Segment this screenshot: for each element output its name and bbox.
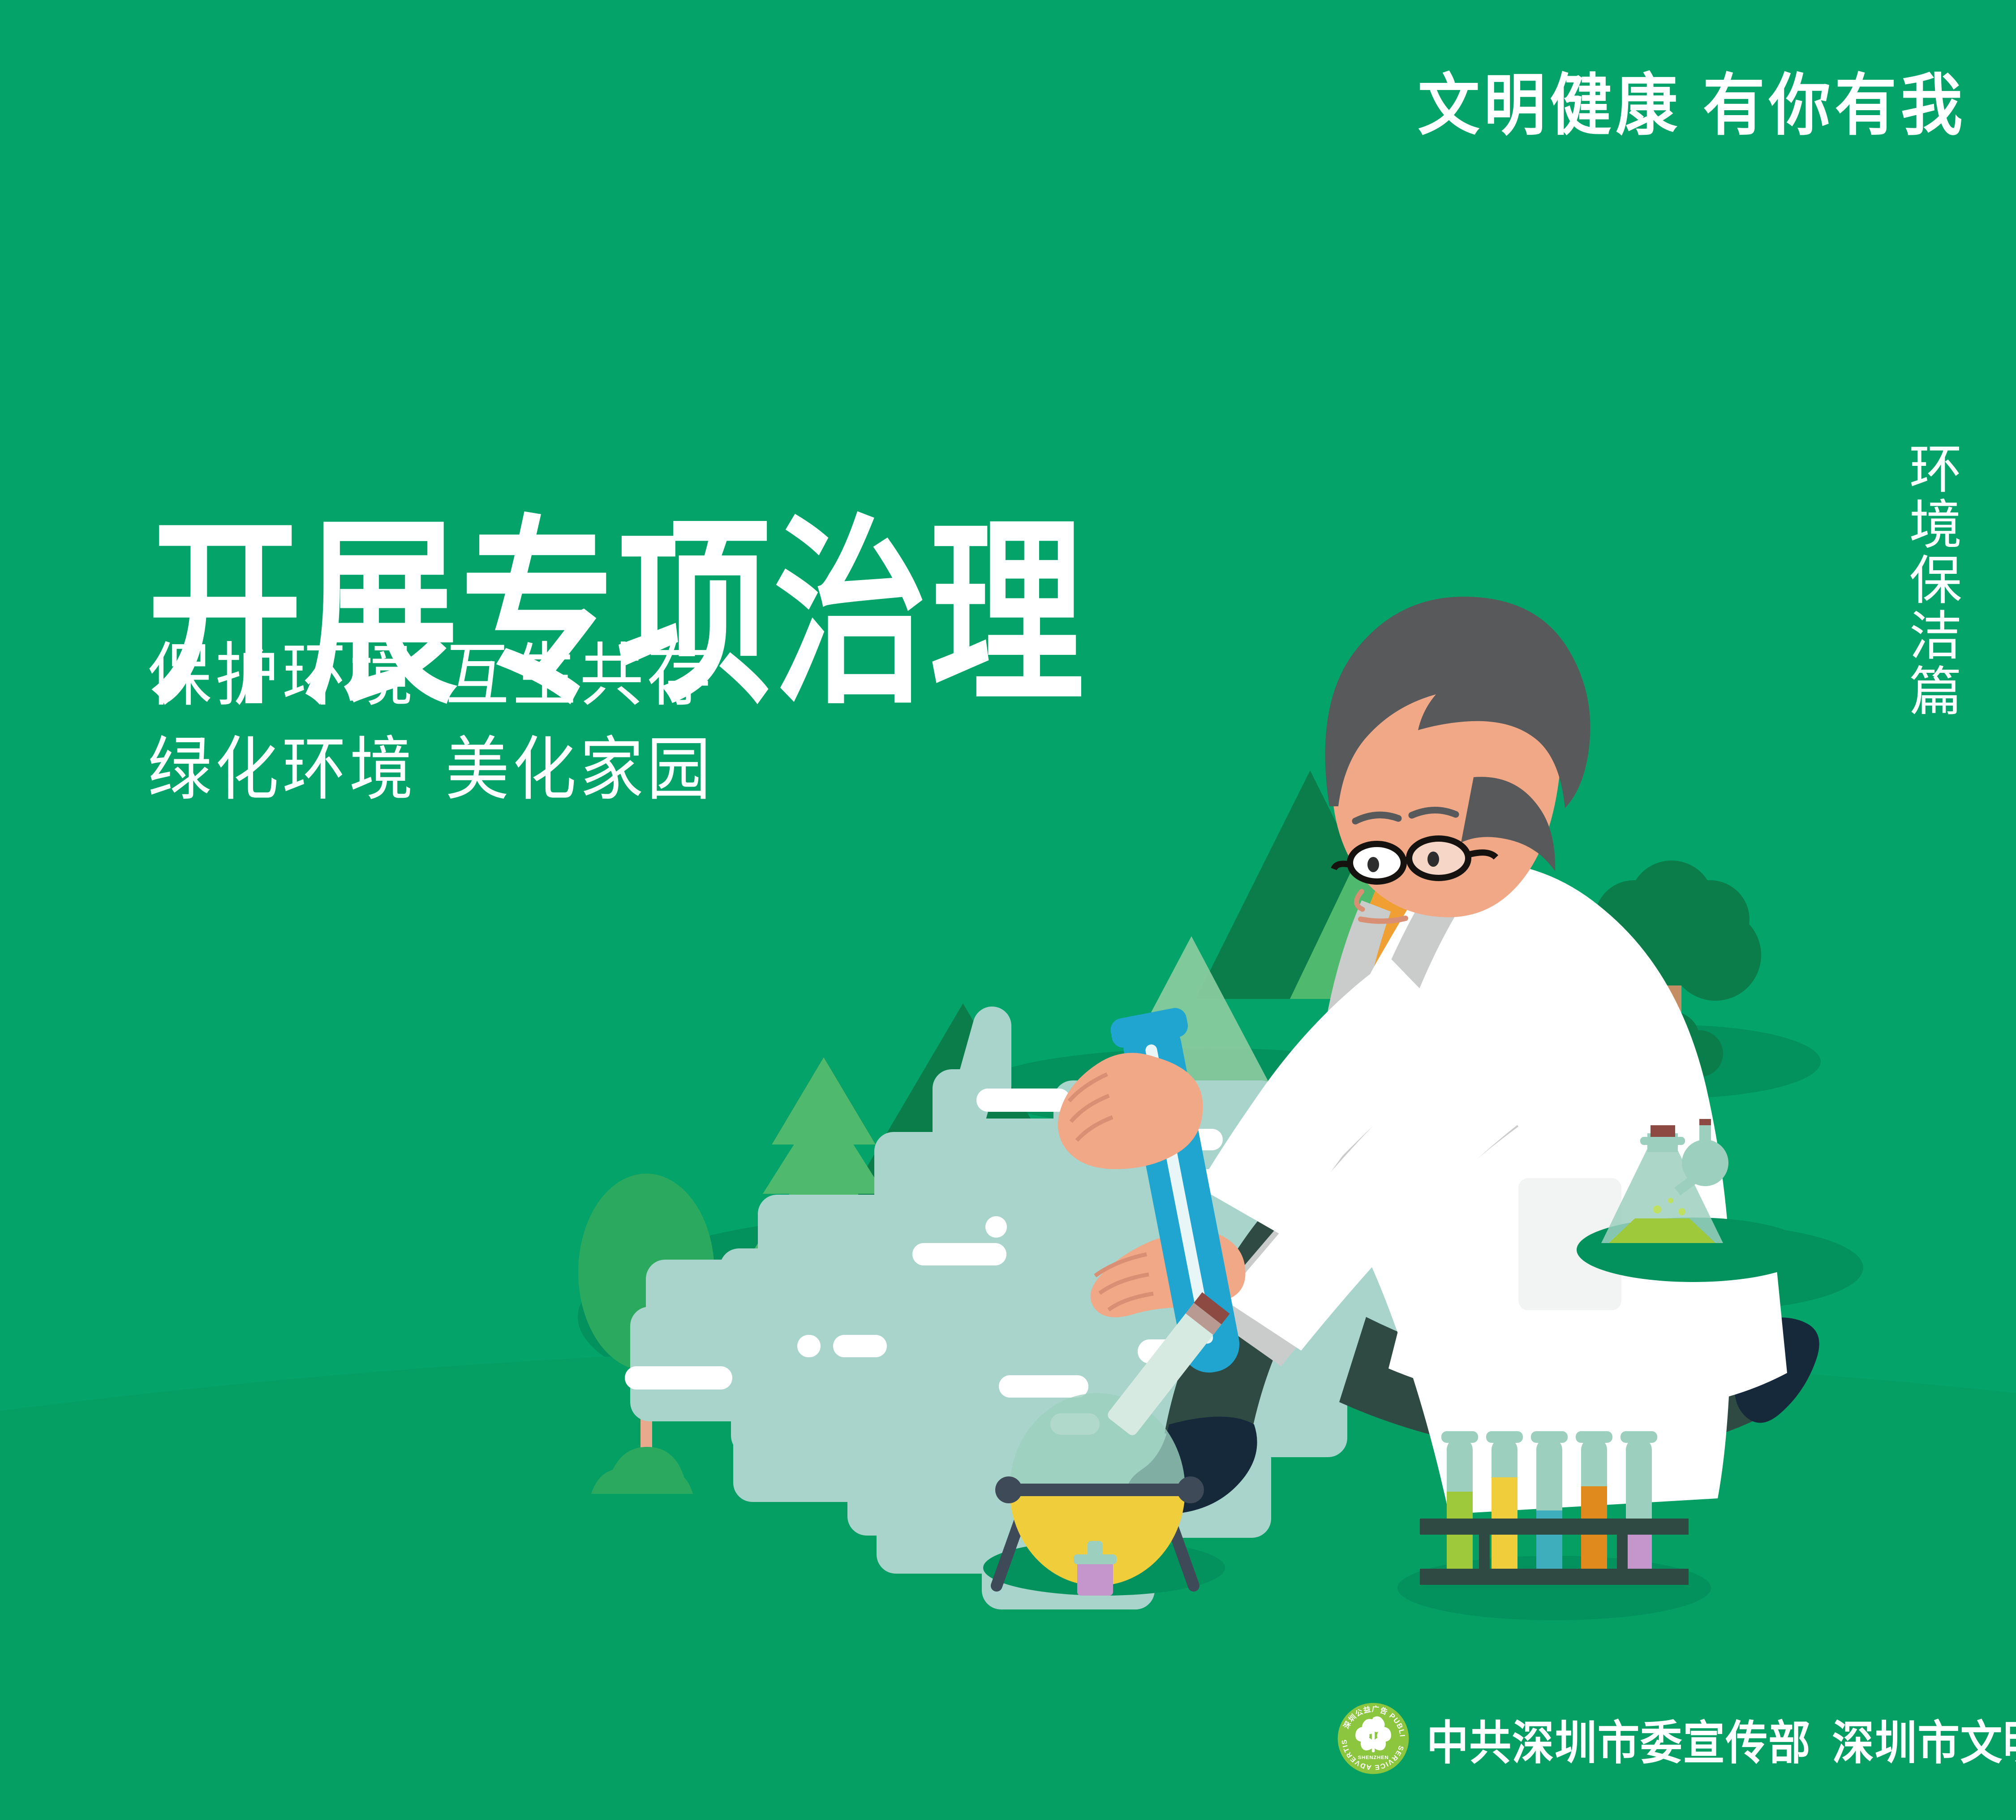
erlenmeyer-lip	[1640, 1137, 1685, 1145]
subtitle-phrase-2a: 绿化环境	[148, 731, 417, 808]
series-label-vertical: 环境保洁篇	[1898, 441, 1962, 719]
erlenmeyer-cork	[1651, 1125, 1675, 1137]
water-highlight	[976, 1089, 1070, 1112]
subtitle-phrase-2b: 美化家园	[445, 731, 714, 808]
rack-top-bar	[1420, 1519, 1689, 1535]
rack-post	[1479, 1532, 1490, 1572]
tripod-knob	[995, 1476, 1022, 1503]
illustration-scene	[0, 0, 2016, 1820]
svg-text:SHENZHEN: SHENZHEN	[1358, 1755, 1389, 1760]
erlenmeyer-bubble	[1668, 1198, 1673, 1203]
water-highlight	[999, 1375, 1088, 1398]
footer-org-secondary: 深圳市文明办	[1832, 1717, 2016, 1769]
water-highlight	[625, 1366, 732, 1390]
water-highlight	[985, 1216, 1007, 1238]
water-highlight	[797, 1335, 821, 1357]
subtitle-phrase-1b: 互生共存	[445, 637, 714, 714]
erlenmeyer-bubble	[1678, 1208, 1685, 1215]
poster-canvas: 文明健康 有你有我 开展专项治理 保护环境互生共存 绿化环境美化家园 环境保洁篇…	[0, 0, 2016, 1820]
footer-organizations: 中共深圳市委宣传部深圳市文明办	[1427, 1705, 2016, 1773]
rack-bottom-bar	[1420, 1569, 1689, 1585]
tripod-bar	[1010, 1484, 1189, 1496]
rack-post	[1617, 1532, 1628, 1572]
erlenmeyer-bulb-cork	[1699, 1119, 1711, 1125]
erlenmeyer-bubble	[1653, 1205, 1661, 1213]
shenzhen-public-service-advertising-logo: 深圳公益广告 PUBLIC SERVICE ADVERTISING SHENZH…	[1337, 1702, 1410, 1775]
erlenmeyer-bulb-neck	[1699, 1120, 1711, 1169]
subtitle-line-1: 保护环境互生共存	[148, 641, 714, 710]
tripod-knob	[1177, 1476, 1204, 1503]
footer-org-primary: 中共深圳市委宣传部	[1427, 1717, 1811, 1769]
footer: 深圳公益广告 PUBLIC SERVICE ADVERTISING SHENZH…	[1337, 1702, 2016, 1775]
water-highlight	[912, 1243, 1006, 1265]
subtitle-line-2: 绿化环境美化家园	[148, 735, 714, 804]
water-highlight	[833, 1335, 887, 1357]
subtitle-phrase-1a: 保护环境	[148, 637, 417, 714]
tagline: 文明健康 有你有我	[1418, 72, 1967, 139]
